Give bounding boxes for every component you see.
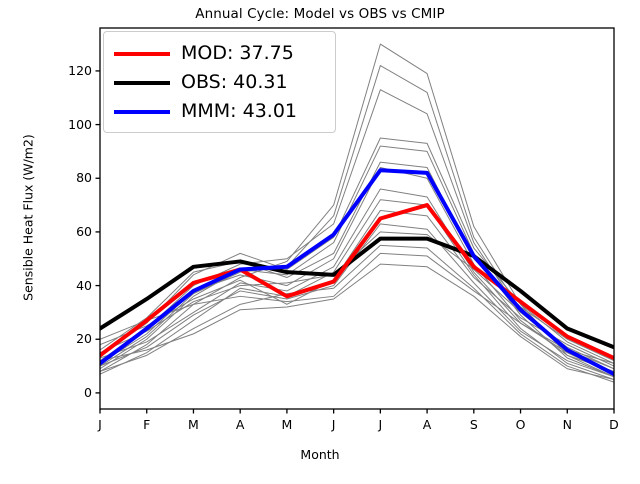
legend-label-obs: OBS: 40.31 xyxy=(181,73,288,92)
x-tick-label: F xyxy=(127,417,167,432)
series-line-obs xyxy=(100,239,614,348)
x-tick-label: S xyxy=(454,417,494,432)
x-tick-label: A xyxy=(407,417,447,432)
x-tick-label: J xyxy=(80,417,120,432)
x-tick-label: D xyxy=(594,417,634,432)
y-tick-label: 80 xyxy=(52,170,92,185)
x-tick-label: M xyxy=(267,417,307,432)
legend-swatch-obs xyxy=(114,81,170,85)
legend-swatch-mod xyxy=(114,52,170,56)
x-tick-label: O xyxy=(501,417,541,432)
legend-item-mod[interactable]: MOD: 37.75 xyxy=(114,39,325,68)
y-tick-label: 60 xyxy=(52,224,92,239)
series-line-mmm xyxy=(100,170,614,374)
chart-legend: MOD: 37.75OBS: 40.31MMM: 43.01 xyxy=(103,31,336,133)
y-tick-label: 40 xyxy=(52,278,92,293)
legend-label-mmm: MMM: 43.01 xyxy=(181,102,297,121)
ensemble-line xyxy=(100,146,614,377)
x-tick-label: N xyxy=(547,417,587,432)
ensemble-line xyxy=(100,162,614,361)
x-axis-label: Month xyxy=(0,447,640,462)
y-tick-label: 120 xyxy=(52,63,92,78)
y-tick-label: 20 xyxy=(52,331,92,346)
y-tick-label: 0 xyxy=(52,385,92,400)
legend-label-mod: MOD: 37.75 xyxy=(181,44,294,63)
y-axis-label: Sensible Heat Flux (W/m2) xyxy=(21,68,36,368)
ensemble-line xyxy=(100,200,614,380)
y-tick-label: 100 xyxy=(52,117,92,132)
legend-swatch-mmm xyxy=(114,110,170,114)
x-tick-label: J xyxy=(360,417,400,432)
legend-item-obs[interactable]: OBS: 40.31 xyxy=(114,68,325,97)
chart-title: Annual Cycle: Model vs OBS vs CMIP xyxy=(0,6,640,22)
chart-figure: Annual Cycle: Model vs OBS vs CMIP Sensi… xyxy=(0,0,640,480)
x-tick-label: A xyxy=(220,417,260,432)
legend-item-mmm[interactable]: MMM: 43.01 xyxy=(114,97,325,126)
x-tick-label: M xyxy=(173,417,213,432)
x-tick-label: J xyxy=(314,417,354,432)
